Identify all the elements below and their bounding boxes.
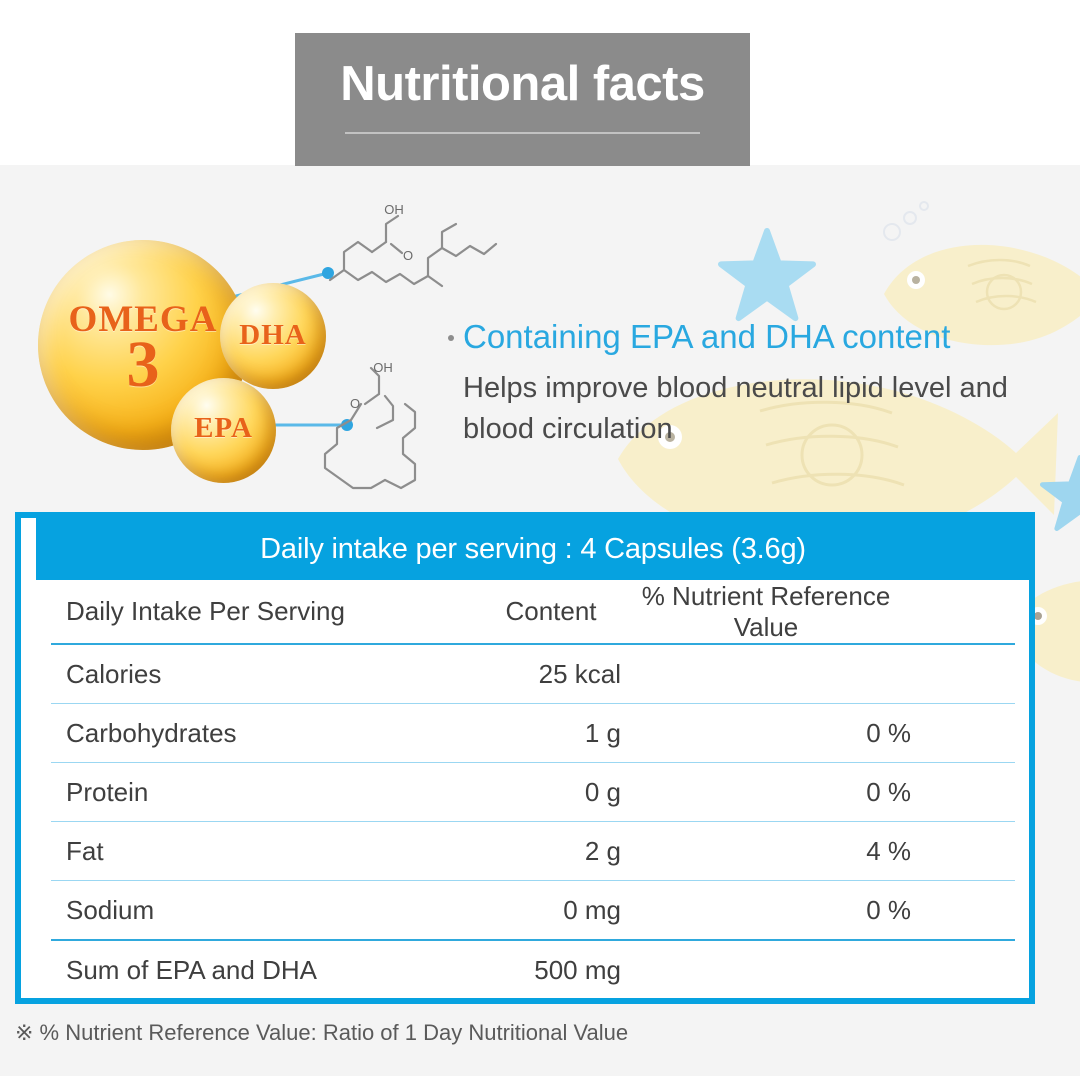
page-title: Nutritional facts <box>340 59 704 110</box>
title-underline <box>345 132 700 134</box>
atom-label-oh: OH <box>384 202 404 217</box>
epa-molecule-diagram: OH O <box>315 358 455 503</box>
footnote: ※ % Nutrient Reference Value: Ratio of 1… <box>15 1020 628 1046</box>
table-row: Fat 2 g 4 % <box>51 822 1015 880</box>
atom-label-o: O <box>350 396 360 411</box>
row-label: Carbohydrates <box>51 718 481 749</box>
table-row: Carbohydrates 1 g 0 % <box>51 704 1015 762</box>
dha-pill: DHA <box>220 283 326 389</box>
hero-subtext: Helps improve blood neutral lipid level … <box>463 368 1038 450</box>
row-content: 0 mg <box>481 895 621 926</box>
row-label: Fat <box>51 836 481 867</box>
dha-molecule-diagram: OH O <box>320 198 510 328</box>
column-header-label: Daily Intake Per Serving <box>51 596 481 627</box>
table-row: Protein 0 g 0 % <box>51 763 1015 821</box>
page-root: Nutritional facts OMEGA 3 DHA EPA <box>0 0 1080 1076</box>
table-banner: Daily intake per serving : 4 Capsules (3… <box>36 518 1030 580</box>
row-content: 25 kcal <box>481 659 621 690</box>
column-header-content: Content <box>481 596 621 627</box>
hero-headline-row: Containing EPA and DHA content <box>448 318 1048 356</box>
title-banner: Nutritional facts <box>295 33 750 166</box>
table-row: Calories 25 kcal <box>51 645 1015 703</box>
hero-copy: Containing EPA and DHA content Helps imp… <box>448 318 1048 450</box>
table-row: Sodium 0 mg 0 % <box>51 881 1015 939</box>
row-percent: 0 % <box>621 718 911 749</box>
table-row: Sum of EPA and DHA 500 mg <box>51 941 1015 999</box>
dha-label: DHA <box>220 319 326 352</box>
column-header-percent: % Nutrient Reference Value <box>621 581 911 643</box>
row-percent: 0 % <box>621 895 911 926</box>
epa-label: EPA <box>171 412 276 445</box>
row-percent: 0 % <box>621 777 911 808</box>
row-label: Sodium <box>51 895 481 926</box>
row-content: 500 mg <box>481 955 621 986</box>
atom-label-oh: OH <box>373 360 393 375</box>
row-content: 1 g <box>481 718 621 749</box>
row-content: 2 g <box>481 836 621 867</box>
row-label: Protein <box>51 777 481 808</box>
table-body: Daily Intake Per Serving Content % Nutri… <box>36 580 1030 999</box>
row-percent: 4 % <box>621 836 911 867</box>
dot-bullet-icon <box>448 335 454 341</box>
table-banner-label: Daily intake per serving : 4 Capsules (3… <box>260 533 806 566</box>
atom-label-o: O <box>403 248 413 263</box>
row-label: Sum of EPA and DHA <box>51 955 481 986</box>
hero-headline: Containing EPA and DHA content <box>463 318 950 356</box>
row-content: 0 g <box>481 777 621 808</box>
row-label: Calories <box>51 659 481 690</box>
epa-pill: EPA <box>171 378 276 483</box>
table-header-row: Daily Intake Per Serving Content % Nutri… <box>51 580 1015 643</box>
nutrition-table: Daily intake per serving : 4 Capsules (3… <box>15 512 1035 1004</box>
